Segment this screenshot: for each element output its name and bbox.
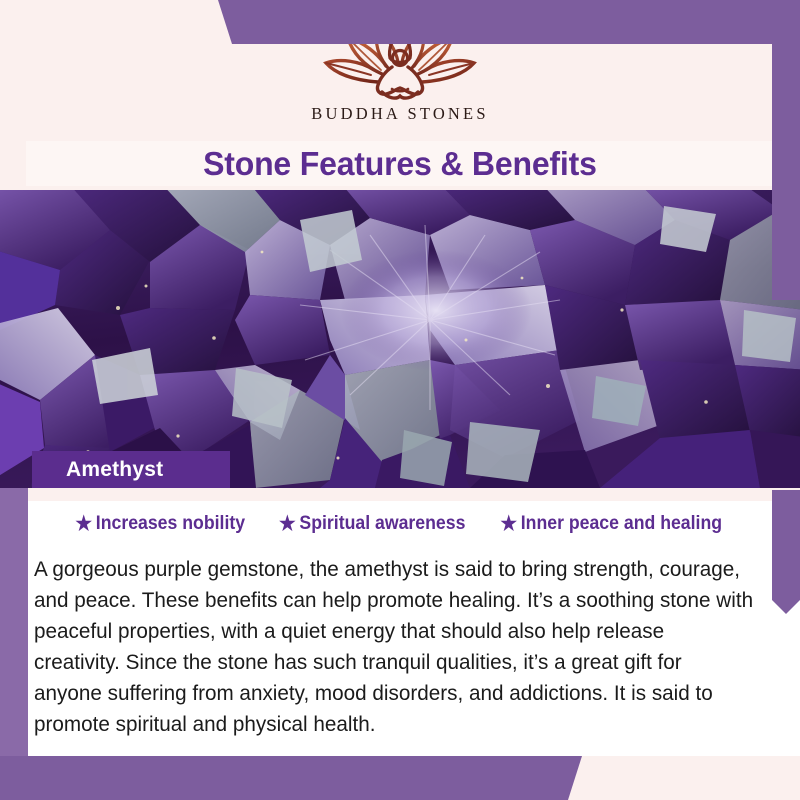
brand-logo: BUDDHA STONES xyxy=(0,22,800,124)
star-icon: ★ xyxy=(279,514,296,534)
title-band: Stone Features & Benefits xyxy=(26,141,774,186)
stone-description: A gorgeous purple gemstone, the amethyst… xyxy=(34,554,755,740)
page-title: Stone Features & Benefits xyxy=(203,145,597,183)
content-top-strip xyxy=(0,488,800,501)
benefits-list: ★ Increases nobility ★ Spiritual awarene… xyxy=(0,513,800,535)
stone-name-banner: Amethyst xyxy=(32,451,230,488)
card-content: ★ Increases nobility ★ Spiritual awarene… xyxy=(0,488,800,756)
star-icon: ★ xyxy=(76,514,93,534)
hero-image xyxy=(0,190,800,488)
card-header: BUDDHA STONES Stone Features & Benefits xyxy=(0,0,800,190)
benefit-label: Spiritual awareness xyxy=(299,513,465,535)
stone-name-label: Amethyst xyxy=(66,458,163,482)
amethyst-crystal-cluster-photo xyxy=(0,190,800,488)
benefit-label: Inner peace and healing xyxy=(521,513,722,535)
benefit-item-1: ★ Increases nobility xyxy=(76,513,246,535)
brand-name: BUDDHA STONES xyxy=(311,104,488,124)
stone-info-card: BUDDHA STONES Stone Features & Benefits xyxy=(0,0,800,800)
star-icon: ★ xyxy=(501,514,518,534)
lotus-meditation-logo-icon xyxy=(316,22,484,100)
frame-bottom-wedge xyxy=(0,756,582,800)
benefit-label: Increases nobility xyxy=(96,513,245,535)
benefit-item-3: ★ Inner peace and healing xyxy=(501,513,723,535)
benefit-item-2: ★ Spiritual awareness xyxy=(279,513,465,535)
